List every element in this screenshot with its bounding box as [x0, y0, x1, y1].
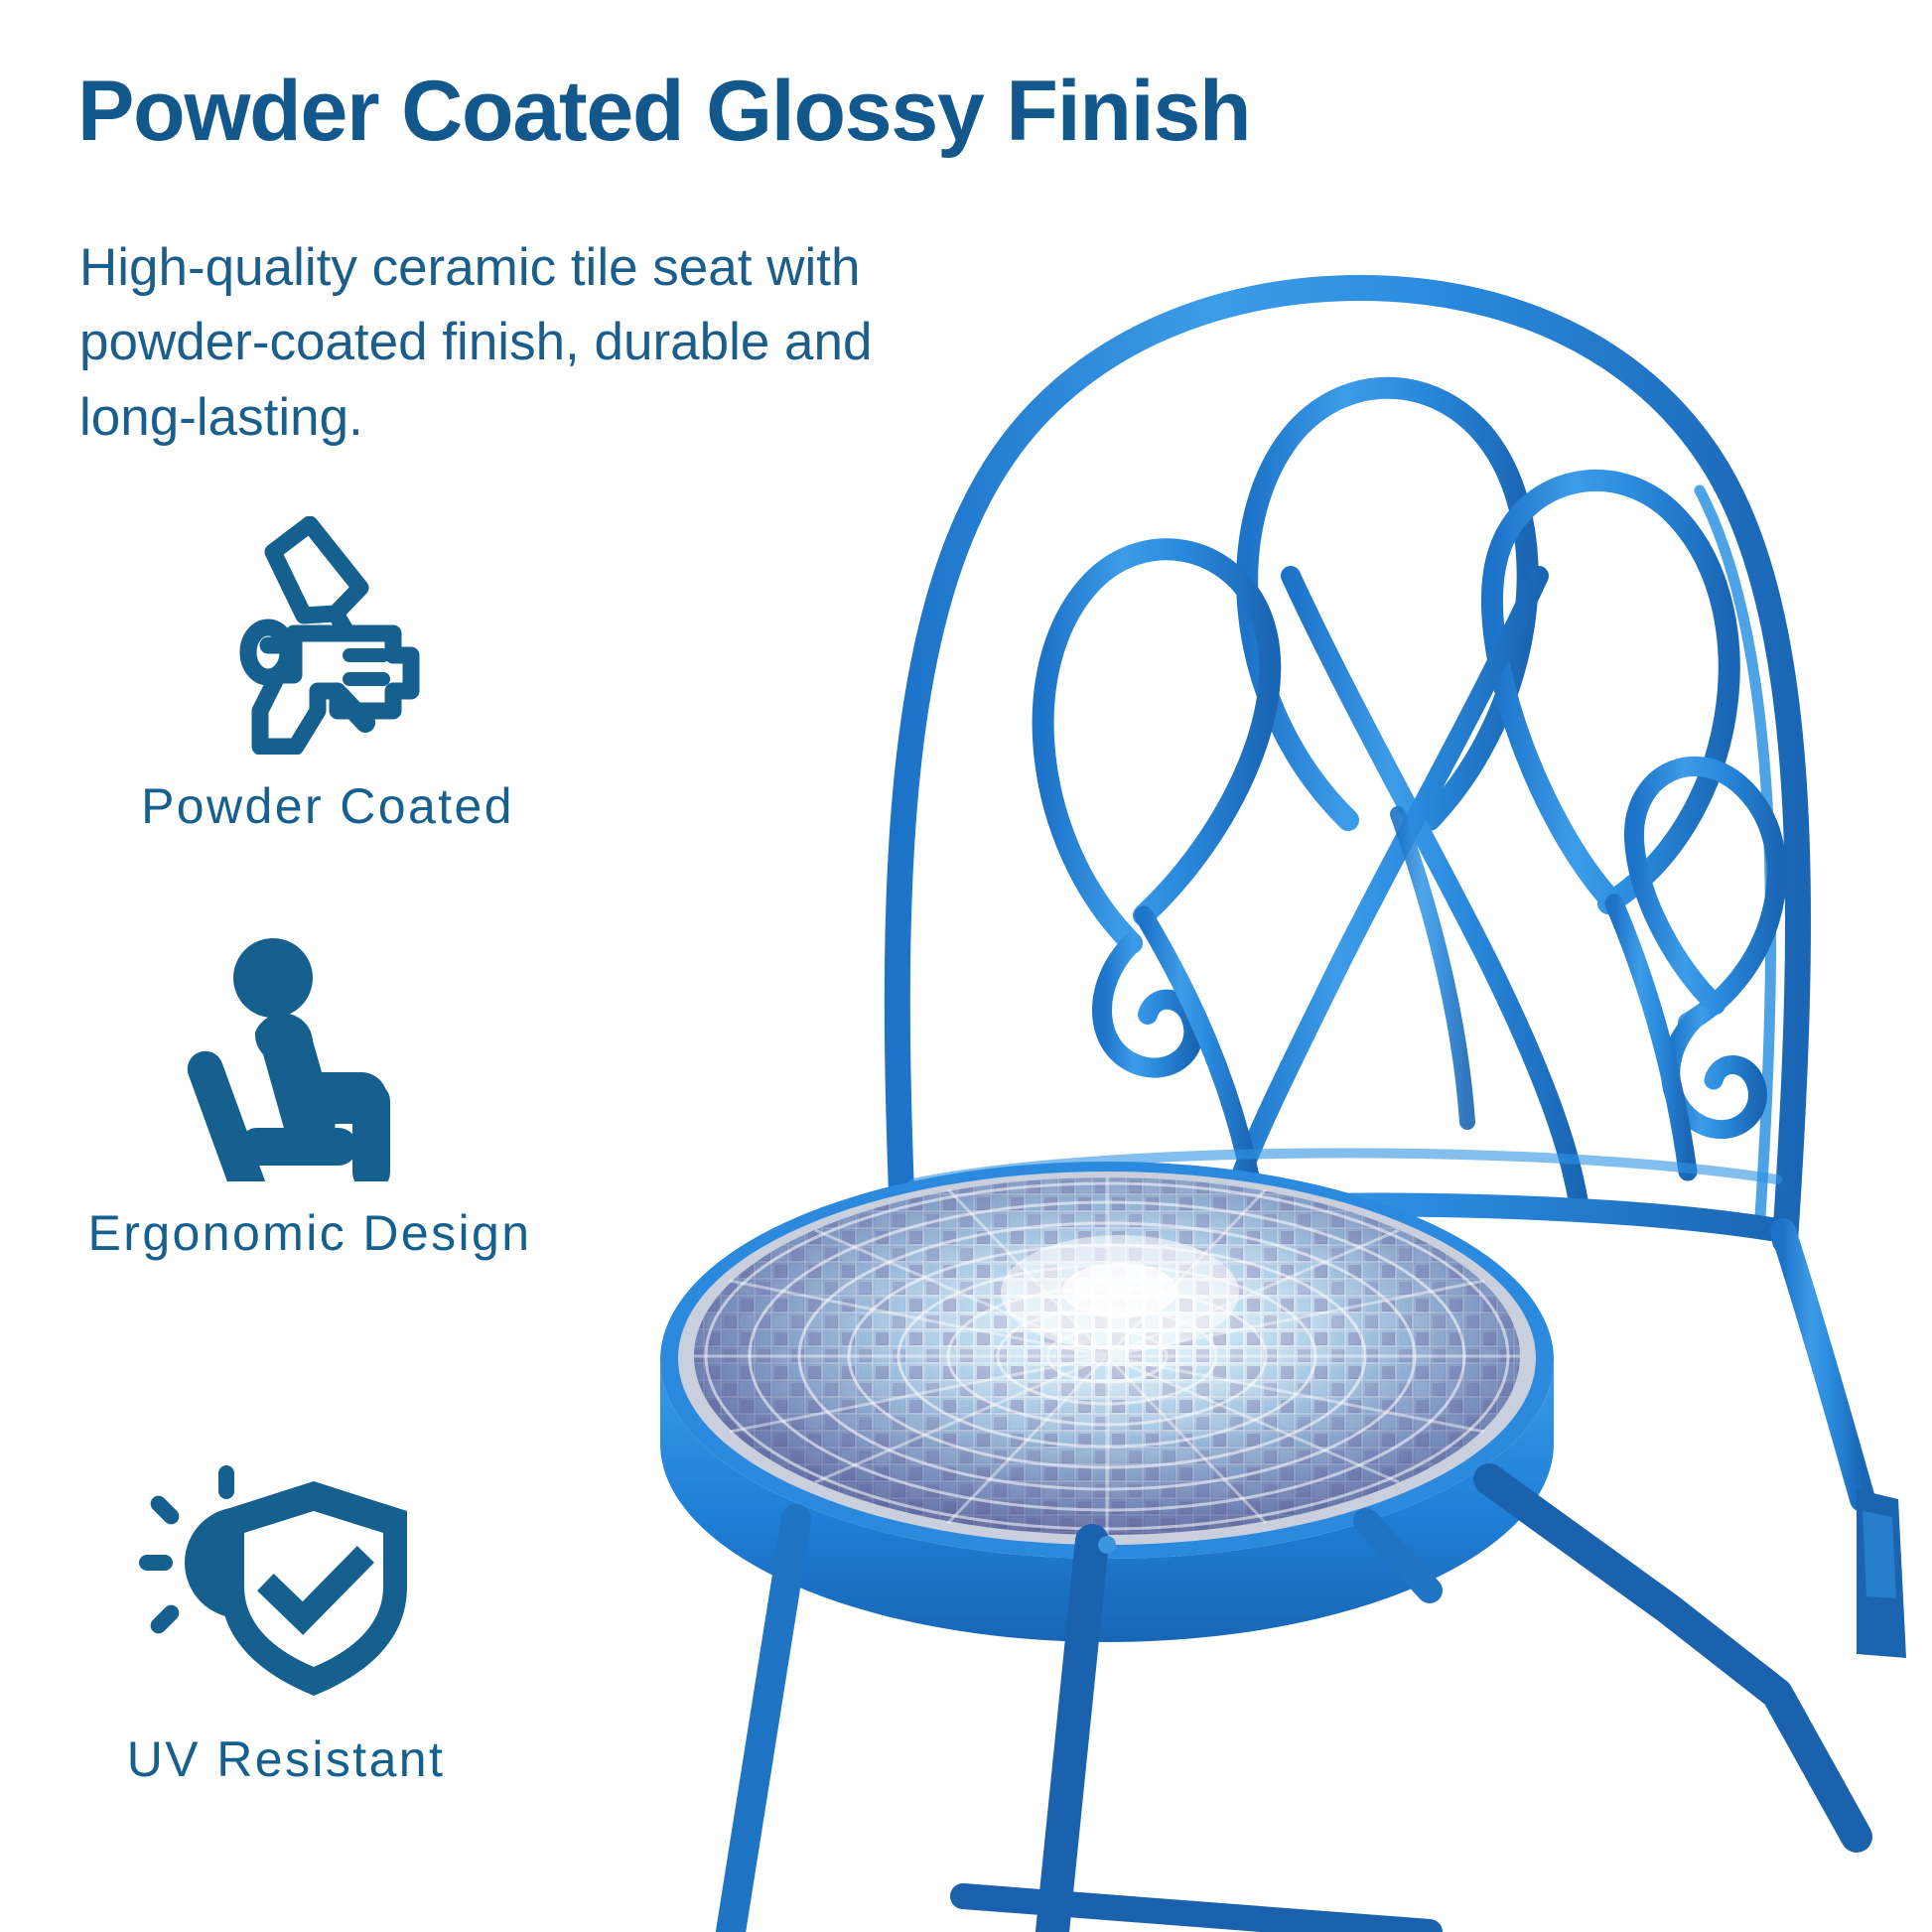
- page-title: Powder Coated Glossy Finish: [77, 68, 1328, 156]
- feature-label-ergonomic-design: Ergonomic Design: [88, 1204, 532, 1262]
- product-image: [536, 149, 1932, 1932]
- feature-label-powder-coated: Powder Coated: [141, 777, 514, 835]
- uv-shield-check-icon: [137, 1459, 435, 1713]
- seated-person-icon: [161, 933, 459, 1186]
- feature-item-powder-coated: Powder Coated: [60, 516, 596, 835]
- feature-item-uv-resistant: UV Resistant: [18, 1459, 554, 1788]
- feature-label-uv-resistant: UV Resistant: [127, 1730, 446, 1788]
- spray-gun-icon: [199, 516, 457, 759]
- infographic-page: Powder Coated Glossy Finish High-quality…: [0, 0, 1932, 1932]
- feature-item-ergonomic-design: Ergonomic Design: [42, 933, 578, 1262]
